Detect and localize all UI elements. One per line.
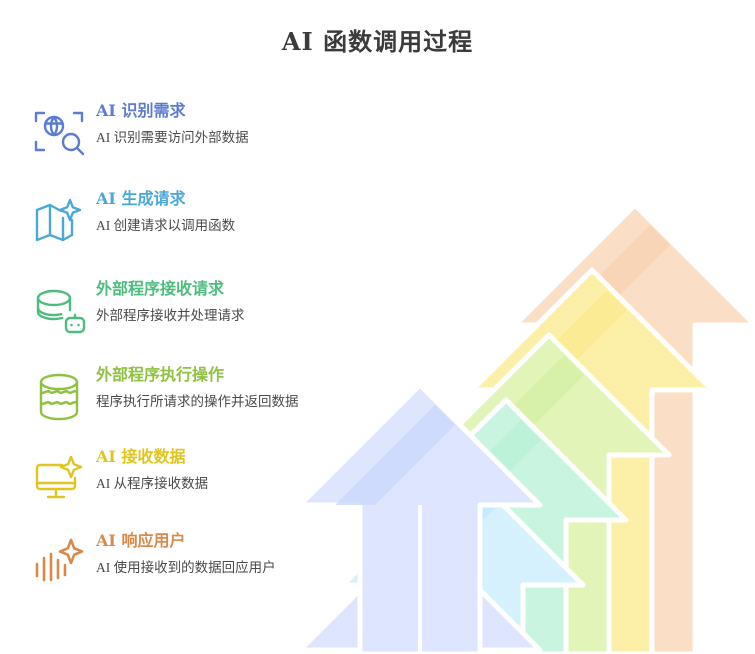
step-title-4: 外部程序执行操作	[96, 364, 314, 386]
database-waves-icon	[30, 368, 88, 426]
step-desc-4: 程序执行所请求的操作并返回数据	[96, 392, 301, 411]
step-desc-6: AI 使用接收到的数据回应用户	[96, 558, 301, 577]
step-title-3: 外部程序接收请求	[96, 278, 314, 300]
scan-globe-search-icon	[30, 104, 88, 162]
step-item-5: AI 接收数据 AI 从程序接收数据	[24, 446, 314, 516]
step-desc-2: AI 创建请求以调用函数	[96, 216, 301, 235]
step-title-2: AI 生成请求	[96, 188, 314, 210]
step-desc-3: 外部程序接收并处理请求	[96, 306, 301, 325]
step-title-6: AI 响应用户	[96, 530, 314, 552]
monitor-sparkle-icon	[30, 450, 88, 508]
step-item-3: 外部程序接收请求 外部程序接收并处理请求	[24, 278, 314, 348]
step-title-1: AI 识别需求	[96, 100, 314, 122]
step-desc-5: AI 从程序接收数据	[96, 474, 301, 493]
step-desc-1: AI 识别需要访问外部数据	[96, 128, 301, 147]
database-robot-icon	[30, 282, 88, 340]
step-item-6: AI 响应用户 AI 使用接收到的数据回应用户	[24, 530, 314, 600]
step-item-4: 外部程序执行操作 程序执行所请求的操作并返回数据	[24, 364, 314, 434]
infographic-page: AI 函数调用过程	[0, 0, 755, 654]
step-title-5: AI 接收数据	[96, 446, 314, 468]
step-item-2: AI 生成请求 AI 创建请求以调用函数	[24, 188, 314, 258]
steps-list: AI 识别需求 AI 识别需要访问外部数据 AI 生成请求 AI 创建请求以调用…	[24, 100, 314, 600]
ascending-arrows-graphic	[300, 80, 755, 654]
step-item-1: AI 识别需求 AI 识别需要访问外部数据	[24, 100, 314, 170]
waveform-sparkle-icon	[30, 534, 88, 592]
page-title: AI 函数调用过程	[0, 22, 755, 57]
map-sparkle-icon	[30, 192, 88, 250]
